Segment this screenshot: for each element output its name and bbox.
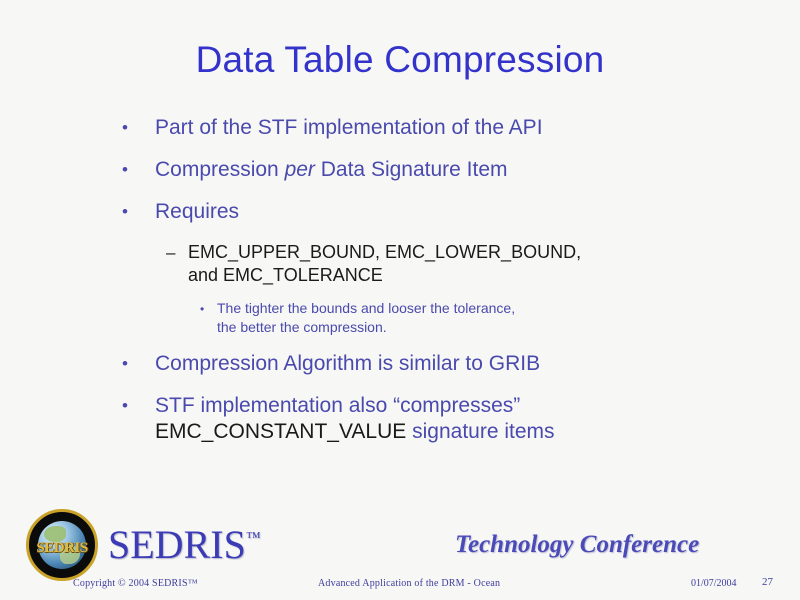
bullet-text-5: STF implementation also “compresses”EMC_… xyxy=(155,393,555,445)
slide-canvas: Data Table Compression • Part of the STF… xyxy=(0,0,800,600)
bullet-text-1: Part of the STF implementation of the AP… xyxy=(155,115,543,141)
bullet-text-5-line1: STF implementation also “compresses” xyxy=(155,394,520,417)
trademark-icon: ™ xyxy=(246,530,261,546)
sub-bullet-text-3-1: EMC_UPPER_BOUND, EMC_LOWER_BOUND,and EMC… xyxy=(188,241,581,287)
bullet-marker-icon: • xyxy=(118,393,155,418)
dash-marker-icon: – xyxy=(166,241,188,265)
sub-bullet-text-3-2-line1: The tighter the bounds and looser the to… xyxy=(217,300,515,316)
bullet-marker-icon: • xyxy=(118,157,155,182)
bullet-marker-icon: • xyxy=(118,199,155,224)
sedris-wordmark-text: SEDRIS xyxy=(108,522,246,567)
bullet-item-1: • Part of the STF implementation of the … xyxy=(118,115,718,141)
sub-bullet-text-3-2: The tighter the bounds and looser the to… xyxy=(217,299,515,337)
footer-date: 01/07/2004 xyxy=(691,578,737,589)
logo-wordmark-text: SEDRIS xyxy=(29,540,95,557)
sub-bullet-text-3-2-line2: the better the compression. xyxy=(217,319,387,335)
bullet-marker-icon: • xyxy=(118,351,155,376)
bullet-text-5-rest: signature items xyxy=(406,420,554,443)
sub-bullet-item-3-1: – EMC_UPPER_BOUND, EMC_LOWER_BOUND,and E… xyxy=(166,241,718,287)
footer-page-number: 27 xyxy=(762,576,773,588)
page-title: Data Table Compression xyxy=(0,40,800,81)
bullet-item-3: • Requires xyxy=(118,199,718,225)
conference-title: Technology Conference xyxy=(455,531,699,559)
bullet-text-4: Compression Algorithm is similar to GRIB xyxy=(155,351,540,377)
sub-bullet-text-3-1-line2: and EMC_TOLERANCE xyxy=(188,265,383,285)
bullet-item-2: • Compression per Data Signature Item xyxy=(118,157,718,183)
slide-body: • Part of the STF implementation of the … xyxy=(118,115,718,461)
sedris-wordmark: SEDRIS™ xyxy=(108,521,261,568)
sub-bullet-text-3-1-line1: EMC_UPPER_BOUND, EMC_LOWER_BOUND, xyxy=(188,242,581,262)
bullet-text-2: Compression per Data Signature Item xyxy=(155,157,508,183)
logo-ring: SEDRIS xyxy=(26,509,98,581)
sedris-globe-logo-icon: SEDRIS xyxy=(26,509,98,581)
footer-subject: Advanced Application of the DRM - Ocean xyxy=(318,578,500,589)
bullet-text-2-pre: Compression xyxy=(155,158,285,181)
bullet-item-5: • STF implementation also “compresses”EM… xyxy=(118,393,718,445)
bullet-item-4: • Compression Algorithm is similar to GR… xyxy=(118,351,718,377)
bullet-marker-icon: • xyxy=(200,299,217,319)
bullet-text-5-code: EMC_CONSTANT_VALUE xyxy=(155,420,406,443)
bullet-text-2-post: Data Signature Item xyxy=(315,158,508,181)
copyright-notice: Copyright © 2004 SEDRIS™ xyxy=(73,578,198,589)
bullet-text-3: Requires xyxy=(155,199,239,225)
bullet-marker-icon: • xyxy=(118,115,155,140)
sub-bullet-item-3-2: • The tighter the bounds and looser the … xyxy=(200,299,718,337)
bullet-text-2-emphasis: per xyxy=(285,158,315,181)
